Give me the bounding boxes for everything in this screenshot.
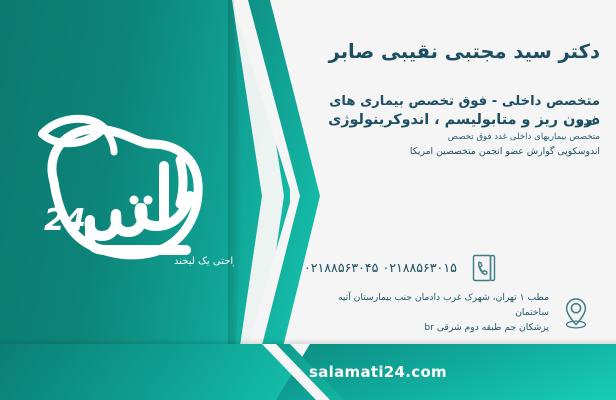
salamati-logo-icon: 24 براحتی یک لبخند	[14, 104, 234, 274]
footer-website[interactable]: salamati24.com	[0, 344, 616, 400]
address-row: مطب ۱ تهران، شهرک غرب دادمان جنب بیمارست…	[304, 290, 604, 336]
address-text[interactable]: مطب ۱ تهران، شهرک غرب دادمان جنب بیمارست…	[304, 290, 549, 336]
specialty-line-2: درون ریز و متابولیسم ، اندوکرینولوژی	[304, 110, 600, 131]
phone-row: ۰۲۱۸۸۵۶۳۰۱۵ ۰۲۱۸۸۵۶۳۰۴۵	[304, 250, 604, 286]
logo-badge-24: 24	[44, 203, 86, 238]
doctor-name: دکتر سید مجتبی نقیبی صابر	[304, 40, 600, 64]
phone-numbers[interactable]: ۰۲۱۸۸۵۶۳۰۱۵ ۰۲۱۸۸۵۶۳۰۴۵	[304, 258, 457, 279]
address-line-1: مطب ۱ تهران، شهرک غرب دادمان جنب بیمارست…	[338, 292, 549, 318]
footer-bar: salamati24.com	[0, 344, 616, 400]
card-content: دکتر سید مجتبی نقیبی صابر متخصص داخلی - …	[300, 0, 616, 400]
phone-book-icon	[467, 250, 501, 286]
logo: 24 براحتی یک لبخند www.salamati24.com	[14, 104, 234, 274]
business-card: 24 براحتی یک لبخند www.salamati24.com دک…	[0, 0, 616, 400]
address-line-2: پزشکان جم طبقه دوم شرقی br	[424, 322, 549, 333]
logo-tagline: براحتی یک لبخند	[174, 256, 234, 267]
credential-line-2: اندوسکوپی گوارش عضو انجمن متخصصین امریکا	[304, 145, 600, 159]
map-pin-icon	[559, 295, 593, 331]
credential-line-1: متخصص بیماریهای داخلی غدد فوق تخصص	[304, 131, 600, 144]
